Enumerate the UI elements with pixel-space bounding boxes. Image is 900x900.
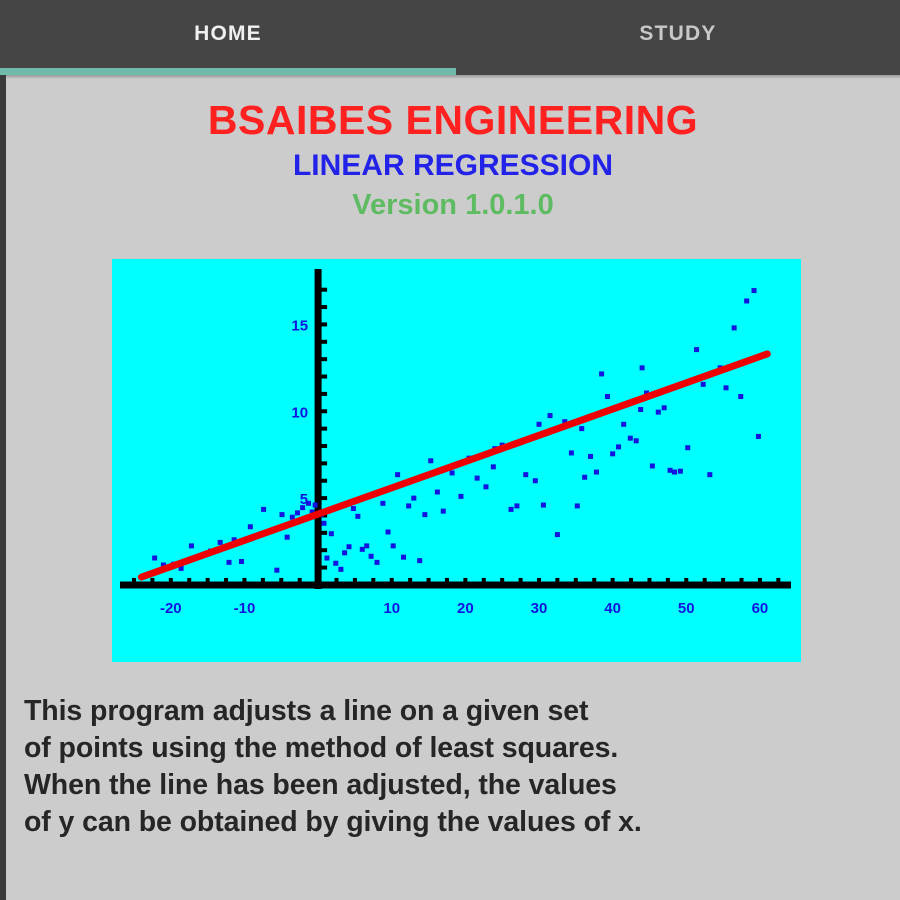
tab-home-label: HOME bbox=[194, 22, 262, 46]
tab-bar: HOME STUDY bbox=[0, 0, 900, 68]
x-tick-label: -10 bbox=[234, 600, 256, 617]
data-point bbox=[364, 543, 369, 548]
regression-chart-figure: -20-1010203040506051015 bbox=[112, 259, 801, 662]
data-point bbox=[152, 556, 157, 561]
content-area: BSAIBES ENGINEERING LINEAR REGRESSION Ve… bbox=[0, 75, 900, 900]
regression-line bbox=[141, 354, 767, 577]
data-point bbox=[569, 450, 574, 455]
data-point bbox=[386, 529, 391, 534]
data-point bbox=[599, 371, 604, 376]
data-point bbox=[662, 405, 667, 410]
data-point bbox=[685, 445, 690, 450]
data-point bbox=[575, 503, 580, 508]
data-point bbox=[300, 505, 305, 510]
app-subtitle: LINEAR REGRESSION bbox=[6, 147, 900, 185]
data-point bbox=[650, 463, 655, 468]
data-point bbox=[514, 503, 519, 508]
x-tick-label: -20 bbox=[160, 600, 182, 617]
x-tick-label: 10 bbox=[383, 600, 400, 617]
data-point bbox=[280, 512, 285, 517]
y-tick-label: 15 bbox=[291, 317, 308, 334]
data-point bbox=[226, 560, 231, 565]
data-point bbox=[450, 470, 455, 475]
data-point bbox=[321, 521, 326, 526]
data-point bbox=[605, 394, 610, 399]
data-point bbox=[375, 560, 380, 565]
data-point bbox=[555, 532, 560, 537]
data-point bbox=[579, 426, 584, 431]
data-point bbox=[380, 501, 385, 506]
data-point bbox=[678, 469, 683, 474]
data-point bbox=[347, 544, 352, 549]
data-point bbox=[491, 464, 496, 469]
data-point bbox=[523, 472, 528, 477]
tab-study-label: STUDY bbox=[639, 22, 716, 46]
data-point bbox=[634, 438, 639, 443]
data-point bbox=[290, 515, 295, 520]
data-point bbox=[756, 434, 761, 439]
data-point bbox=[694, 347, 699, 352]
data-point bbox=[248, 524, 253, 529]
data-point bbox=[638, 407, 643, 412]
data-point bbox=[594, 470, 599, 475]
data-point bbox=[342, 550, 347, 555]
data-point bbox=[541, 503, 546, 508]
data-point bbox=[744, 298, 749, 303]
x-tick-label: 30 bbox=[531, 600, 548, 617]
data-point bbox=[656, 410, 661, 415]
data-point bbox=[417, 558, 422, 563]
app-window: HOME STUDY BSAIBES ENGINEERING LINEAR RE… bbox=[0, 0, 900, 900]
data-point bbox=[395, 472, 400, 477]
data-point bbox=[306, 501, 311, 506]
data-point bbox=[338, 567, 343, 572]
data-point bbox=[483, 484, 488, 489]
data-point bbox=[333, 561, 338, 566]
data-point bbox=[329, 531, 334, 536]
title-block: BSAIBES ENGINEERING LINEAR REGRESSION Ve… bbox=[6, 97, 900, 223]
data-point bbox=[360, 547, 365, 552]
program-description: This program adjusts a line on a given s… bbox=[24, 693, 884, 841]
data-point bbox=[411, 496, 416, 501]
data-point bbox=[324, 556, 329, 561]
x-tick-label: 50 bbox=[678, 600, 695, 617]
data-point bbox=[355, 514, 360, 519]
data-point bbox=[610, 451, 615, 456]
data-point bbox=[738, 394, 743, 399]
data-point bbox=[369, 554, 374, 559]
data-point bbox=[285, 535, 290, 540]
data-point bbox=[351, 506, 356, 511]
data-point bbox=[701, 382, 706, 387]
x-tick-label: 20 bbox=[457, 600, 474, 617]
data-point bbox=[582, 475, 587, 480]
data-point bbox=[509, 507, 514, 512]
data-point bbox=[435, 490, 440, 495]
data-point bbox=[428, 458, 433, 463]
data-point bbox=[537, 422, 542, 427]
data-point bbox=[621, 422, 626, 427]
data-point bbox=[616, 444, 621, 449]
data-point bbox=[406, 503, 411, 508]
data-point bbox=[628, 436, 633, 441]
data-point bbox=[391, 543, 396, 548]
regression-scatter-plot: -20-1010203040506051015 bbox=[112, 259, 801, 662]
data-point bbox=[422, 512, 427, 517]
data-point bbox=[732, 325, 737, 330]
data-point bbox=[588, 454, 593, 459]
data-point bbox=[533, 478, 538, 483]
data-point bbox=[707, 472, 712, 477]
tab-bar-underline bbox=[456, 68, 900, 75]
data-point bbox=[441, 509, 446, 514]
data-point bbox=[640, 365, 645, 370]
data-point bbox=[724, 385, 729, 390]
data-point bbox=[752, 288, 757, 293]
y-tick-label: 10 bbox=[291, 404, 308, 421]
data-point bbox=[401, 555, 406, 560]
data-point bbox=[295, 510, 300, 515]
tab-home[interactable]: HOME bbox=[0, 0, 456, 68]
data-point bbox=[261, 507, 266, 512]
x-tick-label: 60 bbox=[752, 600, 769, 617]
scatter-points bbox=[152, 288, 761, 573]
data-point bbox=[672, 470, 677, 475]
active-tab-indicator bbox=[0, 68, 456, 75]
data-point bbox=[239, 559, 244, 564]
data-point bbox=[458, 494, 463, 499]
content-top-shadow bbox=[6, 75, 900, 79]
data-point bbox=[313, 503, 318, 508]
app-title: BSAIBES ENGINEERING bbox=[6, 97, 900, 143]
tab-study[interactable]: STUDY bbox=[456, 0, 900, 68]
data-point bbox=[668, 468, 673, 473]
data-point bbox=[189, 543, 194, 548]
data-point bbox=[548, 413, 553, 418]
data-point bbox=[218, 540, 223, 545]
x-tick-label: 40 bbox=[604, 600, 621, 617]
data-point bbox=[274, 568, 279, 573]
data-point bbox=[475, 476, 480, 481]
app-version: Version 1.0.1.0 bbox=[6, 187, 900, 223]
